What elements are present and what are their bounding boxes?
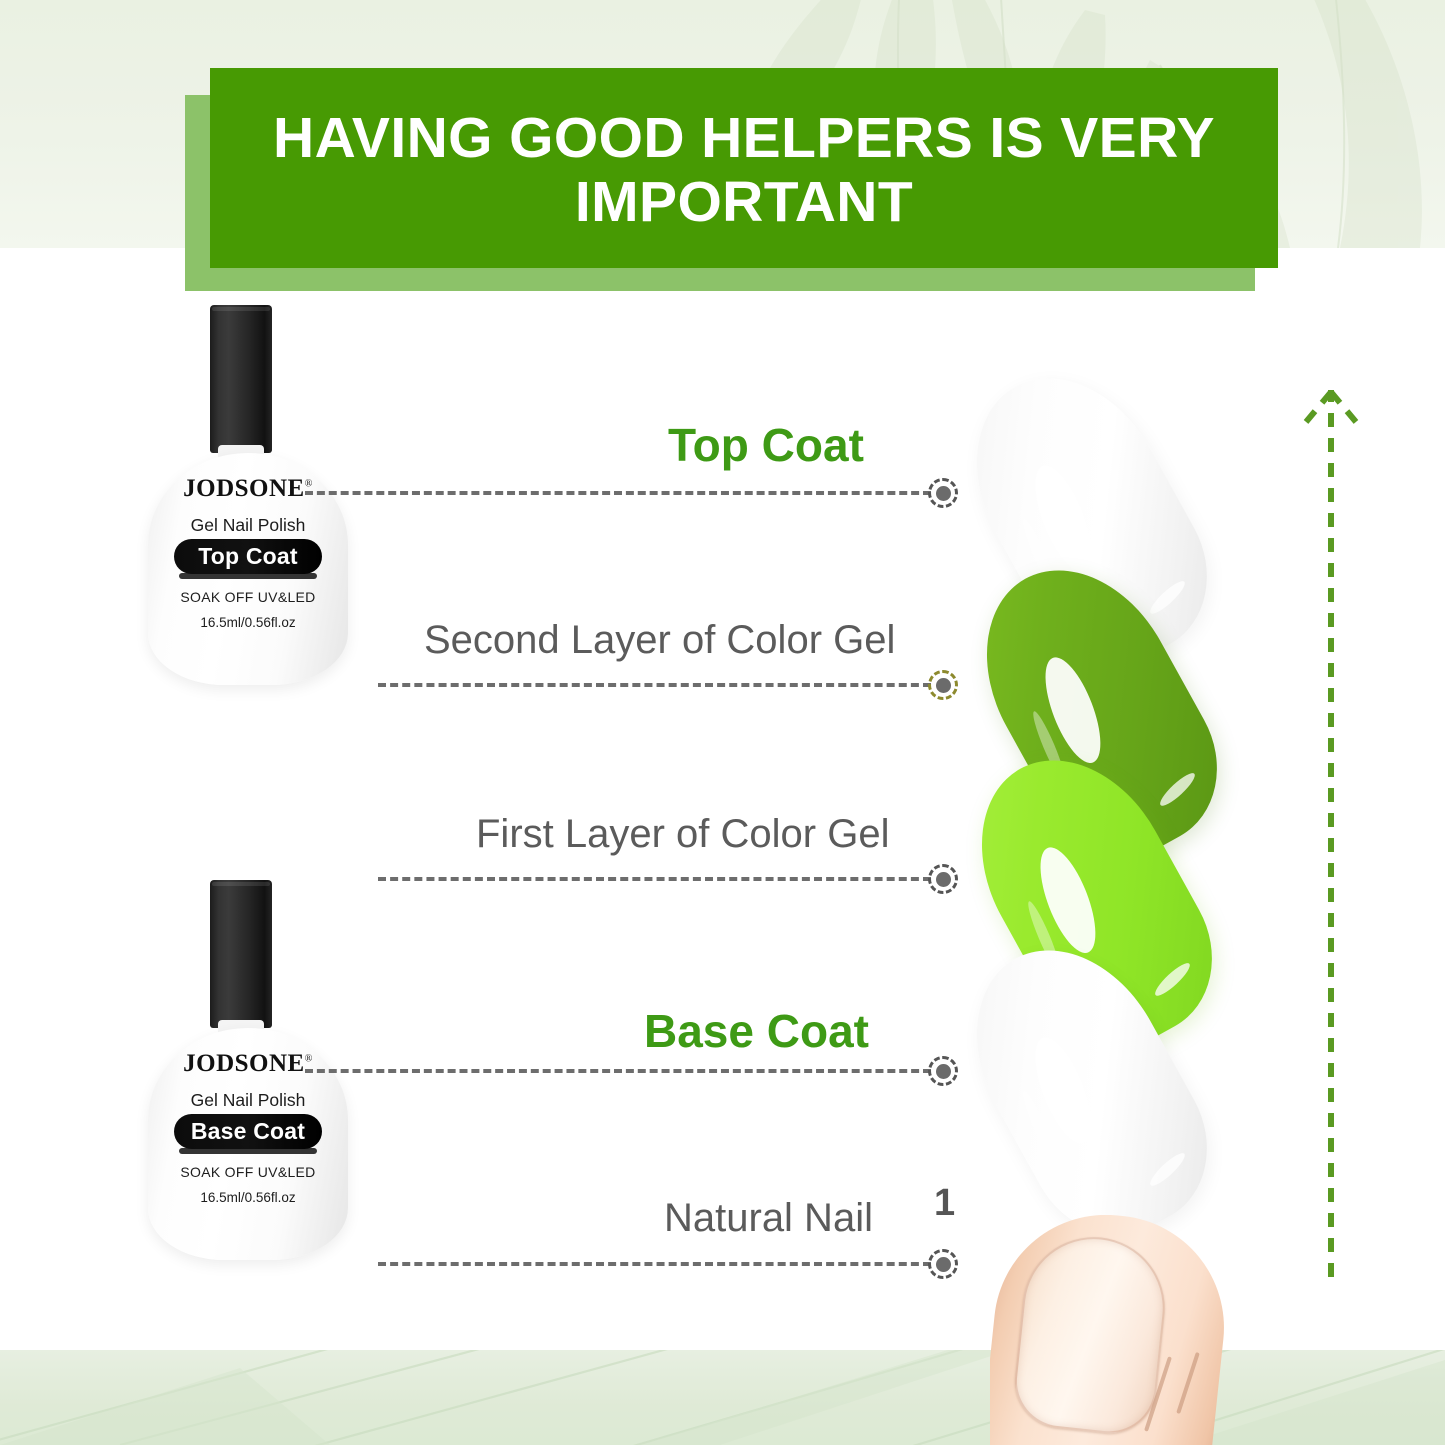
bottle-variant-pill: Top Coat	[174, 539, 322, 574]
layer-label-second-gel: Second Layer of Color Gel	[424, 618, 895, 663]
leader-line-first-gel	[378, 877, 931, 881]
page-title: HAVING GOOD HELPERS IS VERY IMPORTANT	[232, 86, 1256, 256]
leader-line-top-coat	[305, 491, 931, 495]
bottle-product-type: Gel Nail Polish	[148, 515, 348, 536]
nail-tip-highlight	[1147, 577, 1189, 617]
nail-tip-highlight	[1157, 769, 1199, 809]
bottle-cure-text: SOAK OFF UV&LED	[148, 589, 348, 605]
nail-tip-highlight	[1147, 1149, 1189, 1189]
layer-label-first-gel: First Layer of Color Gel	[476, 812, 889, 857]
leader-line-base-coat	[305, 1069, 931, 1073]
leader-dot-top-coat	[928, 478, 958, 508]
layer-label-top-coat: Top Coat	[668, 418, 864, 472]
bottle-cap-icon	[210, 880, 272, 1028]
bottle-product-type: Gel Nail Polish	[148, 1090, 348, 1111]
leader-line-second-gel	[378, 683, 931, 687]
bottle-cure-text: SOAK OFF UV&LED	[148, 1164, 348, 1180]
infographic-page: HAVING GOOD HELPERS IS VERY IMPORTANT JO…	[0, 0, 1445, 1445]
upward-direction-arrow-icon	[1300, 372, 1362, 1282]
registered-mark-icon: ®	[305, 479, 313, 490]
bottle-variant-pill: Base Coat	[174, 1114, 322, 1149]
finger-illustration	[990, 1215, 1250, 1445]
nail-tip-highlight	[1152, 959, 1194, 999]
bottle-brand: JODSONE®	[148, 1050, 348, 1078]
bottle-cap-icon	[210, 305, 272, 453]
registered-mark-icon: ®	[305, 1054, 313, 1065]
leader-dot-second-gel	[928, 670, 958, 700]
layer-label-natural-nail: Natural Nail	[664, 1196, 873, 1241]
bottle-volume-text: 16.5ml/0.56fl.oz	[148, 615, 348, 630]
leader-dot-base-coat	[928, 1056, 958, 1086]
step-number-badge: 1	[934, 1182, 955, 1225]
leader-dot-first-gel	[928, 864, 958, 894]
bottle-brand: JODSONE®	[148, 475, 348, 503]
leader-line-natural-nail	[378, 1262, 931, 1266]
leader-dot-natural-nail	[928, 1249, 958, 1279]
layer-label-base-coat: Base Coat	[644, 1004, 869, 1058]
bottle-volume-text: 16.5ml/0.56fl.oz	[148, 1190, 348, 1205]
